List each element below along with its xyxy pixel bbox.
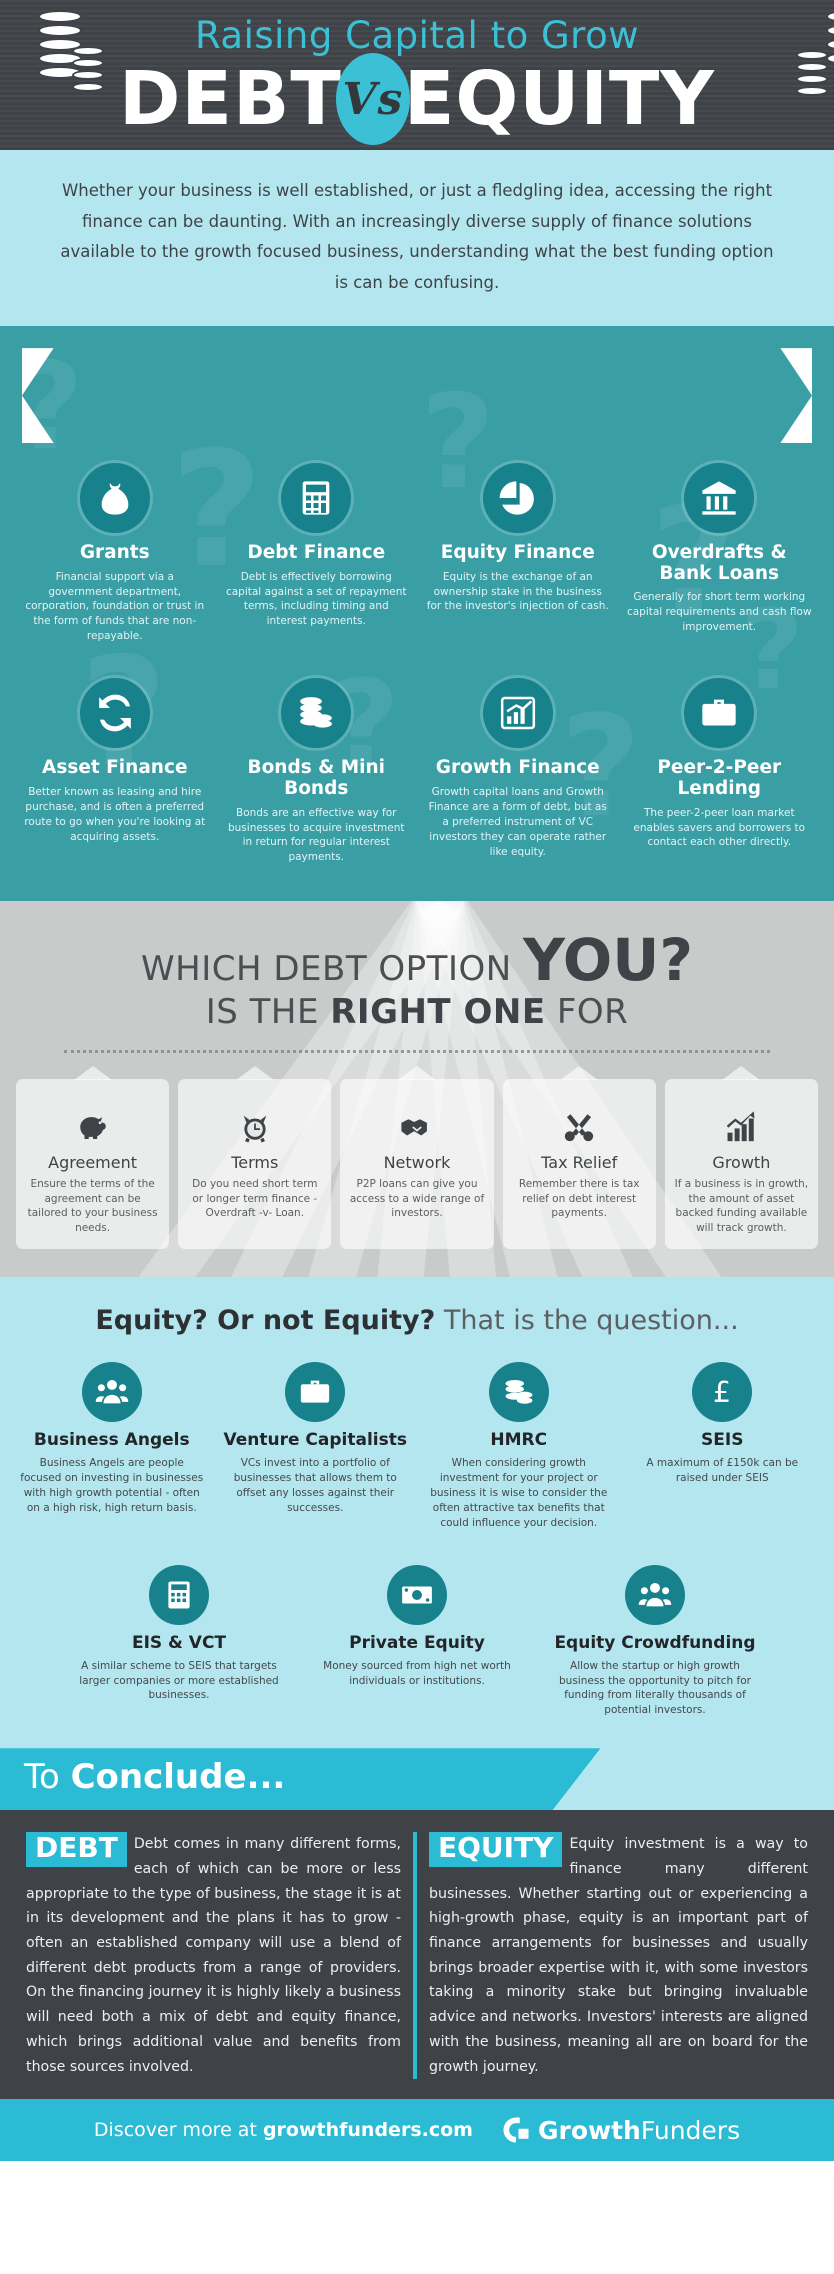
infographic-page: Raising Capital to Grow DEBTVsEQUITY Whe… — [0, 0, 834, 2274]
coins-stack-icon — [281, 678, 351, 748]
coins-stack-icon — [489, 1362, 549, 1422]
option-title: Asset Finance — [22, 758, 208, 779]
equity-title-bold: Equity? Or not Equity? — [95, 1305, 435, 1336]
conclusion-equity-paragraph: EQUITYEquity investment is a way to fina… — [429, 1832, 808, 2079]
debt-tag: DEBT — [26, 1832, 127, 1866]
which-title-rightone: RIGHT ONE — [330, 992, 545, 1032]
conclude-banner-text: To Conclude... — [24, 1757, 285, 1797]
banner-wrap: DEBT OR EQUITY? GRANT? BANK OR CROWDFUND… — [0, 348, 834, 443]
scissors-icon — [510, 1109, 649, 1145]
growth-chart-icon — [483, 678, 553, 748]
bank-icon — [684, 463, 754, 533]
option-asset-finance[interactable]: Asset Finance Better known as leasing an… — [14, 672, 216, 879]
alarm-clock-icon — [185, 1109, 324, 1145]
equity-grid-row1: Business Angels Business Angels are peop… — [0, 1356, 834, 1545]
which-title-you: YOU — [523, 926, 659, 994]
banner-vc: VC? — [649, 398, 693, 422]
pie-chart-icon — [483, 463, 553, 533]
growthfunders-logo[interactable]: GrowthFunders — [501, 2115, 740, 2145]
footer-discover-text: Discover more at growthfunders.com — [94, 2119, 473, 2141]
conclude-word: Conclude... — [71, 1757, 286, 1797]
briefcase-icon — [285, 1362, 345, 1422]
options-banner: DEBT OR EQUITY? GRANT? BANK OR CROWDFUND… — [22, 348, 812, 443]
header-title: DEBTVsEQUITY — [0, 56, 834, 149]
conclusion-section: DEBTDebt comes in many different forms, … — [0, 1810, 834, 2099]
option-desc: Better known as leasing and hire purchas… — [22, 785, 208, 845]
which-card-title: Growth — [672, 1153, 811, 1172]
header-word-equity: EQUITY — [404, 56, 715, 142]
option-title: Bonds & Mini Bonds — [224, 758, 410, 799]
option-overdrafts-bank-loans[interactable]: Overdrafts & Bank Loans Generally for sh… — [619, 457, 821, 658]
which-title-isthe: IS THE — [206, 992, 331, 1032]
banner-firm-or: FIRM OR — [545, 398, 649, 422]
calculator-icon — [149, 1565, 209, 1625]
footer-discover-plain: Discover more at — [94, 2119, 263, 2141]
equity-private-equity[interactable]: Private Equity Money sourced from high n… — [298, 1559, 536, 1733]
equity-business-angels[interactable]: Business Angels Business Angels are peop… — [10, 1356, 214, 1545]
equity-title-rest: That is the question... — [435, 1305, 738, 1336]
equity-hmrc[interactable]: HMRC When considering growth investment … — [417, 1356, 621, 1545]
equity-desc: Money sourced from high net worth indivi… — [308, 1659, 526, 1689]
which-title-qmark: ? — [659, 926, 693, 994]
svg-text:£: £ — [713, 1376, 731, 1409]
banner-line-1: DEBT OR EQUITY? GRANT? BANK OR — [72, 364, 762, 394]
banner-crowdfunded-pe: CROWDFUNDED? PRIVATE EQUITY — [141, 398, 546, 422]
which-card-agreement[interactable]: Agreement Ensure the terms of the agreem… — [16, 1079, 169, 1249]
equity-title-label: Venture Capitalists — [224, 1431, 408, 1450]
option-desc: Bonds are an effective way for businesse… — [224, 806, 410, 866]
banner-equity-grant-bank: EQUITY? GRANT? BANK — [313, 367, 590, 391]
banner-or2: OR — [590, 367, 628, 391]
which-card-title: Agreement — [23, 1153, 162, 1172]
equity-desc: Business Angels are people focused on in… — [20, 1456, 204, 1516]
option-title: Peer-2-Peer Lending — [627, 758, 813, 799]
handshake-icon — [347, 1109, 486, 1145]
calculator-icon — [281, 463, 351, 533]
option-desc: Growth capital loans and Growth Finance … — [425, 785, 611, 860]
options-grid-row1: Grants Financial support via a governmen… — [0, 443, 834, 658]
which-title-for: FOR — [546, 992, 629, 1032]
header: Raising Capital to Grow DEBTVsEQUITY — [0, 0, 834, 150]
option-desc: Generally for short term working capital… — [627, 590, 813, 635]
option-desc: The peer-2-peer loan market enables save… — [627, 806, 813, 851]
option-desc: Financial support via a government depar… — [22, 570, 208, 645]
banner-or1: OR — [268, 367, 313, 391]
which-card-desc: Remember there is tax relief on debt int… — [510, 1177, 649, 1220]
option-title: Growth Finance — [425, 758, 611, 779]
money-bag-icon — [80, 463, 150, 533]
growthfunders-logo-text: GrowthFunders — [538, 2116, 740, 2145]
option-desc: Debt is effectively borrowing capital ag… — [224, 570, 410, 630]
options-section: ? ? ? ? ? ? ? ? DEBT OR EQUITY? GRANT? B… — [0, 326, 834, 901]
pound-sterling-icon: £ — [692, 1362, 752, 1422]
option-equity-finance[interactable]: Equity Finance Equity is the exchange of… — [417, 457, 619, 658]
which-card-growth[interactable]: Growth If a business is in growth, the a… — [665, 1079, 818, 1249]
bar-chart-arrow-icon — [672, 1109, 811, 1145]
option-growth-finance[interactable]: Growth Finance Growth capital loans and … — [417, 672, 619, 879]
conclusion-debt-paragraph: DEBTDebt comes in many different forms, … — [26, 1832, 401, 2079]
option-grants[interactable]: Grants Financial support via a governmen… — [14, 457, 216, 658]
equity-crowdfunding[interactable]: Equity Crowdfunding Allow the startup or… — [536, 1559, 774, 1733]
option-title: Debt Finance — [224, 543, 410, 564]
conclusion-debt-column: DEBTDebt comes in many different forms, … — [14, 1832, 417, 2079]
debt-body: Debt comes in many different forms, each… — [26, 1836, 401, 2074]
which-card-title: Tax Relief — [510, 1153, 649, 1172]
which-debt-title: WHICH DEBT OPTION YOU? IS THE RIGHT ONE … — [0, 927, 834, 1053]
equity-title: Equity? Or not Equity? That is the quest… — [0, 1301, 834, 1356]
briefcase-icon — [684, 678, 754, 748]
banner-line-2: CROWDFUNDED? PRIVATE EQUITY FIRM OR VC? — [72, 395, 762, 425]
equity-desc: A maximum of £150k can be raised under S… — [631, 1456, 815, 1486]
vs-badge: Vs — [336, 53, 410, 145]
equity-title-label: HMRC — [427, 1431, 611, 1450]
which-card-desc: Do you need short term or longer term fi… — [185, 1177, 324, 1220]
option-title: Grants — [22, 543, 208, 564]
piggy-bank-icon — [23, 1109, 162, 1145]
footer-discover-url[interactable]: growthfunders.com — [263, 2119, 473, 2141]
people-group-icon — [625, 1565, 685, 1625]
which-card-desc: If a business is in growth, the amount o… — [672, 1177, 811, 1235]
which-title-line1: WHICH DEBT OPTION YOU? — [30, 927, 804, 993]
equity-eis-vct[interactable]: EIS & VCT A similar scheme to SEIS that … — [60, 1559, 298, 1733]
option-desc: Equity is the exchange of an ownership s… — [425, 570, 611, 615]
refresh-arrows-icon — [80, 678, 150, 748]
which-debt-section: WHICH DEBT OPTION YOU? IS THE RIGHT ONE … — [0, 901, 834, 1277]
equity-desc: VCs invest into a portfolio of businesse… — [224, 1456, 408, 1516]
header-word-debt: DEBT — [119, 56, 342, 142]
equity-venture-capitalists[interactable]: Venture Capitalists VCs invest into a po… — [214, 1356, 418, 1545]
logo-growth: Growth — [538, 2116, 641, 2145]
equity-title-label: Business Angels — [20, 1431, 204, 1450]
header-subtitle: Raising Capital to Grow — [0, 14, 834, 57]
which-card-desc: P2P loans can give you access to a wide … — [347, 1177, 486, 1220]
equity-title-label: EIS & VCT — [70, 1634, 288, 1653]
which-cards: Agreement Ensure the terms of the agreem… — [0, 1053, 834, 1255]
equity-title-label: Equity Crowdfunding — [546, 1634, 764, 1653]
intro-section: Whether your business is well establishe… — [0, 150, 834, 326]
equity-body: Equity investment is a way to finance ma… — [429, 1836, 808, 2074]
equity-title-label: Private Equity — [308, 1634, 526, 1653]
banner-debt: DEBT — [205, 367, 268, 391]
equity-section: Equity? Or not Equity? That is the quest… — [0, 1277, 834, 1748]
equity-tag: EQUITY — [429, 1832, 562, 1866]
option-title: Equity Finance — [425, 543, 611, 564]
option-title: Overdrafts & Bank Loans — [627, 543, 813, 584]
banknote-icon — [387, 1565, 447, 1625]
equity-desc: A similar scheme to SEIS that targets la… — [70, 1659, 288, 1704]
conclude-to: To — [24, 1757, 71, 1797]
equity-grid-row2: EIS & VCT A similar scheme to SEIS that … — [0, 1545, 834, 1733]
option-peer-2-peer-lending[interactable]: Peer-2-Peer Lending The peer-2-peer loan… — [619, 672, 821, 879]
equity-desc: When considering growth investment for y… — [427, 1456, 611, 1531]
which-title-line2: IS THE RIGHT ONE FOR — [30, 993, 804, 1032]
people-group-icon — [82, 1362, 142, 1422]
which-card-network[interactable]: Network P2P loans can give you access to… — [340, 1079, 493, 1249]
which-card-tax-relief[interactable]: Tax Relief Remember there is tax relief … — [503, 1079, 656, 1249]
growthfunders-logo-icon — [501, 2115, 531, 2145]
vs-label: Vs — [336, 53, 410, 145]
conclusion-equity-column: EQUITYEquity investment is a way to fina… — [417, 1832, 820, 2079]
which-card-title: Network — [347, 1153, 486, 1172]
logo-funders: Funders — [641, 2116, 740, 2145]
intro-paragraph: Whether your business is well establishe… — [58, 176, 776, 298]
equity-title-label: SEIS — [631, 1431, 815, 1450]
option-bonds-mini-bonds[interactable]: Bonds & Mini Bonds Bonds are an effectiv… — [216, 672, 418, 879]
footer: Discover more at growthfunders.com Growt… — [0, 2099, 834, 2161]
conclude-banner: To Conclude... — [0, 1748, 834, 1810]
which-card-desc: Ensure the terms of the agreement can be… — [23, 1177, 162, 1235]
which-card-title: Terms — [185, 1153, 324, 1172]
which-title-text1: WHICH DEBT OPTION — [141, 949, 512, 989]
equity-desc: Allow the startup or high growth busines… — [546, 1659, 764, 1719]
equity-seis[interactable]: £ SEIS A maximum of £150k can be raised … — [621, 1356, 825, 1545]
which-card-terms[interactable]: Terms Do you need short term or longer t… — [178, 1079, 331, 1249]
option-debt-finance[interactable]: Debt Finance Debt is effectively borrowi… — [216, 457, 418, 658]
options-grid-row2: Asset Finance Better known as leasing an… — [0, 658, 834, 879]
